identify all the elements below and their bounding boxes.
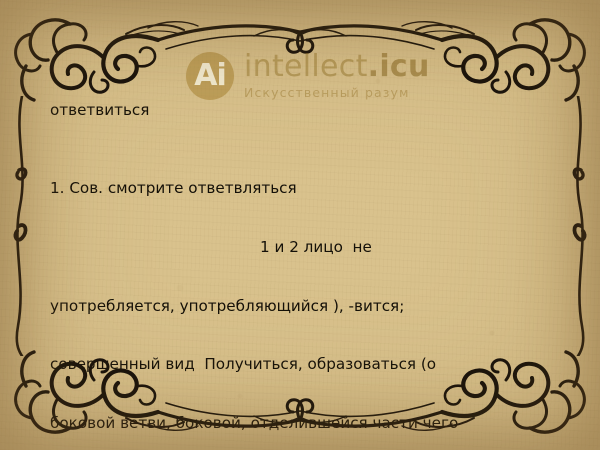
- entry-line: употребляется, употребляющийся ), -вится…: [50, 297, 550, 317]
- entry-line: 1 и 2 лицо не: [50, 238, 550, 258]
- entry-line: боковой ветви, боковой, отделившейся час…: [50, 414, 550, 434]
- dictionary-entry-card: Ai intellect.icu Искусственный разум отв…: [0, 0, 600, 450]
- page-title: ответвиться: [50, 101, 550, 121]
- right-scroll-rule-ornament: [568, 96, 594, 356]
- left-scroll-rule-ornament: [6, 96, 32, 356]
- entry-line: совершенный вид Получиться, образоваться…: [50, 355, 550, 375]
- entry-body: ответвиться 1. Сов. смотрите ответвлятьс…: [50, 62, 550, 450]
- entry-line: 1. Сов. смотрите ответвляться: [50, 179, 550, 199]
